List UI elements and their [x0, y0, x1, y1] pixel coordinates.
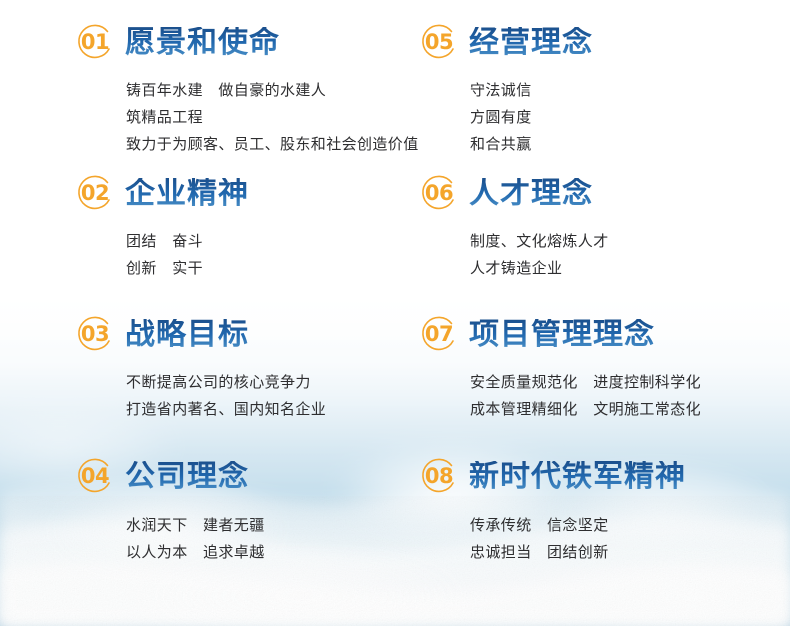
section-heading: 02 企业精神: [74, 169, 410, 219]
section-heading: 04 公司理念: [74, 452, 410, 502]
section-title: 愿景和使命: [125, 27, 280, 59]
section-heading: 08 新时代铁军精神: [418, 452, 790, 502]
value-section-02: 02 企业精神 团结 奋斗 创新 实干: [74, 169, 410, 282]
section-number: 06: [425, 183, 453, 205]
number-badge-01: 01: [74, 22, 116, 64]
section-title: 企业精神: [125, 178, 249, 210]
section-line: 筑精品工程: [126, 104, 410, 131]
value-section-01: 01 愿景和使命 铸百年水建 做自豪的水建人 筑精品工程 致力于为顾客、员工、股…: [74, 18, 410, 158]
value-section-05: 05 经营理念 守法诚信 方圆有度 和合共赢: [418, 18, 790, 158]
section-title: 人才理念: [469, 178, 593, 210]
section-title: 项目管理理念: [469, 319, 655, 351]
section-lines: 不断提高公司的核心竞争力 打造省内著名、国内知名企业: [74, 369, 410, 423]
section-line: 以人为本 追求卓越: [126, 539, 410, 566]
section-line: 传承传统 信念坚定: [470, 512, 790, 539]
section-lines: 团结 奋斗 创新 实干: [74, 228, 410, 282]
section-line: 团结 奋斗: [126, 228, 410, 255]
value-section-07: 07 项目管理理念 安全质量规范化 进度控制科学化 成本管理精细化 文明施工常态…: [418, 310, 790, 423]
section-heading: 01 愿景和使命: [74, 18, 410, 68]
section-lines: 铸百年水建 做自豪的水建人 筑精品工程 致力于为顾客、员工、股东和社会创造价值: [74, 77, 410, 158]
section-line: 方圆有度: [470, 104, 790, 131]
section-lines: 传承传统 信念坚定 忠诚担当 团结创新: [418, 512, 790, 566]
value-section-08: 08 新时代铁军精神 传承传统 信念坚定 忠诚担当 团结创新: [418, 452, 790, 566]
section-title: 经营理念: [469, 27, 593, 59]
number-badge-07: 07: [418, 314, 460, 356]
section-line: 水润天下 建者无疆: [126, 512, 410, 539]
section-lines: 安全质量规范化 进度控制科学化 成本管理精细化 文明施工常态化: [418, 369, 790, 423]
section-line: 制度、文化熔炼人才: [470, 228, 790, 255]
number-badge-04: 04: [74, 456, 116, 498]
section-lines: 守法诚信 方圆有度 和合共赢: [418, 77, 790, 158]
left-column: 01 愿景和使命 铸百年水建 做自豪的水建人 筑精品工程 致力于为顾客、员工、股…: [0, 18, 410, 572]
value-section-04: 04 公司理念 水润天下 建者无疆 以人为本 追求卓越: [74, 452, 410, 566]
value-section-03: 03 战略目标 不断提高公司的核心竞争力 打造省内著名、国内知名企业: [74, 310, 410, 423]
section-title: 战略目标: [125, 319, 249, 351]
section-heading: 06 人才理念: [418, 169, 790, 219]
value-section-06: 06 人才理念 制度、文化熔炼人才 人才铸造企业: [418, 169, 790, 282]
section-line: 打造省内著名、国内知名企业: [126, 396, 410, 423]
section-line: 人才铸造企业: [470, 255, 790, 282]
section-lines: 水润天下 建者无疆 以人为本 追求卓越: [74, 512, 410, 566]
section-line: 和合共赢: [470, 131, 790, 158]
right-column: 05 经营理念 守法诚信 方圆有度 和合共赢 06: [410, 18, 790, 572]
section-lines: 制度、文化熔炼人才 人才铸造企业: [418, 228, 790, 282]
section-number: 02: [81, 183, 109, 205]
section-line: 不断提高公司的核心竞争力: [126, 369, 410, 396]
section-line: 成本管理精细化 文明施工常态化: [470, 396, 790, 423]
section-line: 守法诚信: [470, 77, 790, 104]
two-column-layout: 01 愿景和使命 铸百年水建 做自豪的水建人 筑精品工程 致力于为顾客、员工、股…: [0, 18, 790, 572]
section-number: 07: [425, 324, 453, 346]
number-badge-03: 03: [74, 314, 116, 356]
number-badge-02: 02: [74, 173, 116, 215]
section-title: 公司理念: [125, 461, 249, 493]
section-number: 01: [81, 32, 109, 54]
section-line: 铸百年水建 做自豪的水建人: [126, 77, 410, 104]
number-badge-05: 05: [418, 22, 460, 64]
section-number: 08: [425, 466, 453, 488]
section-line: 忠诚担当 团结创新: [470, 539, 790, 566]
section-number: 05: [425, 32, 453, 54]
section-number: 03: [81, 324, 109, 346]
section-line: 致力于为顾客、员工、股东和社会创造价值: [126, 131, 410, 158]
section-heading: 07 项目管理理念: [418, 310, 790, 360]
section-line: 安全质量规范化 进度控制科学化: [470, 369, 790, 396]
section-heading: 03 战略目标: [74, 310, 410, 360]
section-line: 创新 实干: [126, 255, 410, 282]
section-number: 04: [81, 466, 109, 488]
culture-values-page: 01 愿景和使命 铸百年水建 做自豪的水建人 筑精品工程 致力于为顾客、员工、股…: [0, 0, 790, 626]
number-badge-06: 06: [418, 173, 460, 215]
section-heading: 05 经营理念: [418, 18, 790, 68]
number-badge-08: 08: [418, 456, 460, 498]
section-title: 新时代铁军精神: [469, 461, 686, 493]
